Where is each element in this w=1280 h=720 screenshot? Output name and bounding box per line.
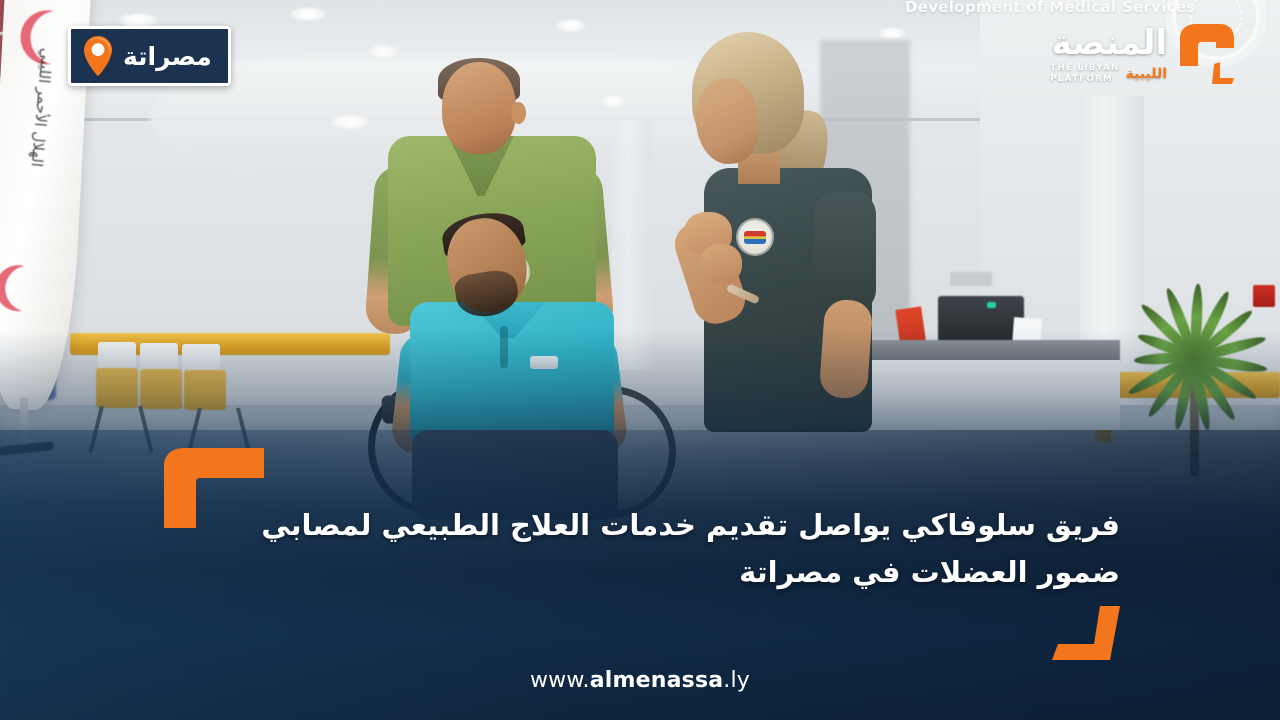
- ceiling-light: [330, 116, 370, 128]
- therapist-head: [442, 62, 516, 154]
- quote-bracket-close: [1052, 606, 1126, 664]
- url-tld: .ly: [723, 668, 750, 693]
- brand-logo-wordmark: المنصة THE LIBYAN PLATFORM الليبية: [1050, 26, 1167, 84]
- wall-sign-text: Development of Medical Services: [905, 0, 1196, 16]
- brand-subtitle-arabic: الليبية: [1126, 67, 1167, 81]
- ceiling-light: [290, 8, 326, 20]
- printer-led: [987, 302, 996, 308]
- news-card: الهلال الأحمر الليبي Development of Medi…: [0, 0, 1280, 720]
- uniform-crest-patch: [738, 220, 772, 254]
- banner-arabic-text: الهلال الأحمر الليبي: [27, 47, 59, 119]
- quote-bracket-close-icon: [1052, 606, 1126, 660]
- quote-bracket-open-icon: [164, 448, 264, 528]
- ceiling-light: [368, 46, 398, 57]
- location-badge[interactable]: مصراتة: [68, 26, 231, 86]
- headline: فريق سلوفاكي يواصل تقديم خدمات العلاج ال…: [260, 502, 1120, 596]
- red-crescent-logo: [0, 264, 43, 312]
- headline-line-2: ضمور العضلات في مصراتة: [260, 549, 1120, 596]
- quote-bracket-open: [164, 448, 264, 532]
- url-name: almenassa: [590, 668, 724, 693]
- brand-logo[interactable]: المنصة THE LIBYAN PLATFORM الليبية: [1050, 22, 1238, 88]
- wall-notice: [950, 272, 992, 286]
- location-badge-label: مصراتة: [123, 44, 212, 69]
- map-pin-icon: [83, 36, 113, 76]
- brand-name-english: THE LIBYAN PLATFORM: [1050, 63, 1119, 84]
- ceiling-light: [556, 20, 586, 31]
- footer-url[interactable]: www.almenassa.ly: [0, 668, 1280, 693]
- headline-line-1: فريق سلوفاكي يواصل تقديم خدمات العلاج ال…: [260, 502, 1120, 549]
- brand-logo-mark: [1176, 22, 1238, 88]
- url-prefix: www.: [530, 668, 590, 693]
- orange-bracket-logo-mark: [1176, 22, 1238, 88]
- brand-name-arabic: المنصة: [1052, 26, 1167, 60]
